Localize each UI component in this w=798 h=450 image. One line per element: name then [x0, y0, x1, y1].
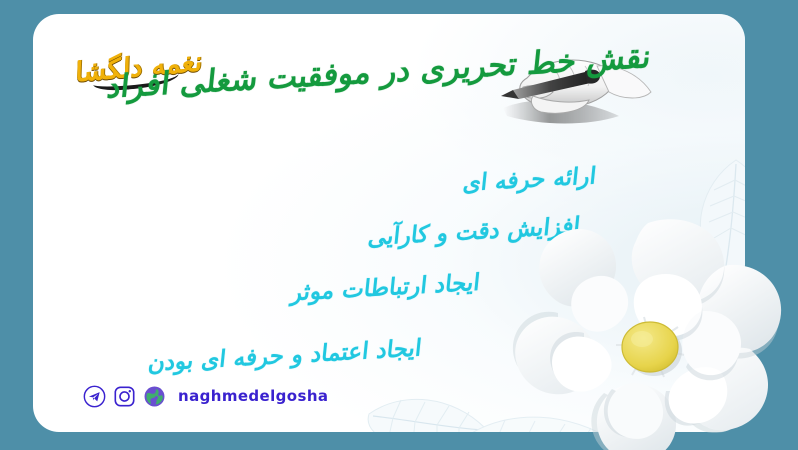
- globe-icon[interactable]: [143, 385, 166, 408]
- instagram-icon[interactable]: [113, 385, 136, 408]
- list-item: ایجاد ارتباطات موثر: [290, 269, 481, 307]
- banner-root: نغمه دلگشا: [0, 0, 798, 450]
- social-bar: naghmedelgosha: [83, 385, 328, 408]
- telegram-icon[interactable]: [83, 385, 106, 408]
- list-item: ارائه حرفه ای: [462, 162, 598, 197]
- paper-flower-icon: [498, 205, 798, 450]
- list-item: ایجاد اعتماد و حرفه ای بودن: [147, 334, 423, 376]
- social-handle[interactable]: naghmedelgosha: [178, 389, 328, 404]
